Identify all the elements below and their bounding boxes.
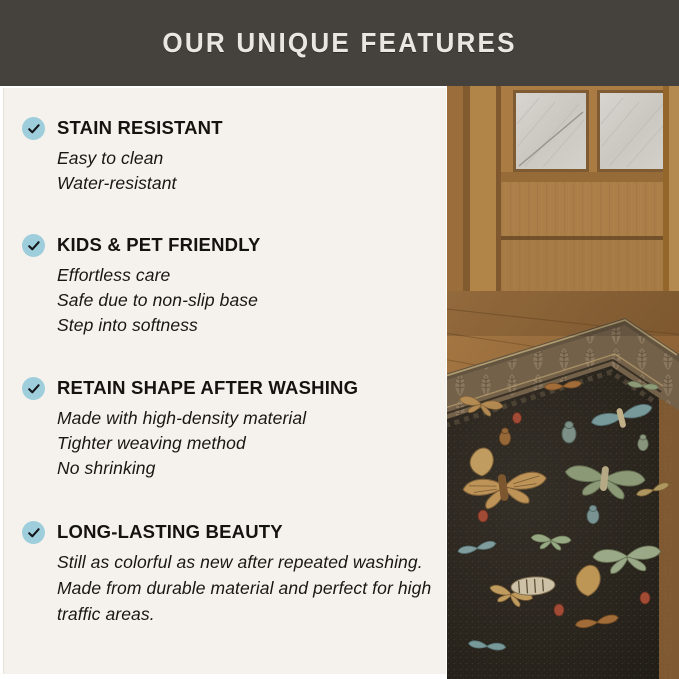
feature-title: STAIN RESISTANT [57,116,223,139]
feature-item-kids-pet-friendly: KIDS & PET FRIENDLY Effortless care Safe… [22,233,434,338]
features-panel: STAIN RESISTANT Easy to clean Water-resi… [3,88,446,674]
feature-detail-list: Easy to clean Water-resistant [57,146,434,196]
feature-detail-line: Easy to clean [57,146,434,171]
feature-detail-line: Water-resistant [57,171,434,196]
check-circle-icon [22,234,45,257]
feature-title: RETAIN SHAPE AFTER WASHING [57,376,358,399]
feature-heading-row: RETAIN SHAPE AFTER WASHING [22,376,434,400]
feature-detail-line: Effortless care [57,263,434,288]
feature-detail-list: Effortless care Safe due to non-slip bas… [57,263,434,338]
page-title: OUR UNIQUE FEATURES [162,27,516,59]
header-bar: OUR UNIQUE FEATURES [0,0,679,86]
lifestyle-photo [447,86,679,679]
feature-title: LONG-LASTING BEAUTY [57,520,283,543]
product-feature-card: OUR UNIQUE FEATURES STAIN RESISTANT Easy… [0,0,679,679]
feature-detail-line: Made with high-density material [57,406,434,431]
feature-title: KIDS & PET FRIENDLY [57,233,261,256]
feature-detail-line: No shrinking [57,456,434,481]
check-circle-icon [22,377,45,400]
feature-detail-line: Tighter weaving method [57,431,434,456]
feature-heading-row: KIDS & PET FRIENDLY [22,233,434,257]
feature-detail-line: Safe due to non-slip base [57,288,434,313]
feature-item-retain-shape: RETAIN SHAPE AFTER WASHING Made with hig… [22,376,434,481]
feature-detail-list: Made with high-density material Tighter … [57,406,434,481]
check-circle-icon [22,521,45,544]
feature-item-stain-resistant: STAIN RESISTANT Easy to clean Water-resi… [22,116,434,196]
feature-detail-line: Step into softness [57,313,434,338]
content-area: STAIN RESISTANT Easy to clean Water-resi… [0,86,679,679]
check-circle-icon [22,117,45,140]
feature-item-long-lasting-beauty: LONG-LASTING BEAUTY Still as colorful as… [22,520,434,627]
feature-detail-paragraph: Still as colorful as new after repeated … [57,549,446,627]
feature-heading-row: STAIN RESISTANT [22,116,434,140]
feature-heading-row: LONG-LASTING BEAUTY [22,520,434,544]
